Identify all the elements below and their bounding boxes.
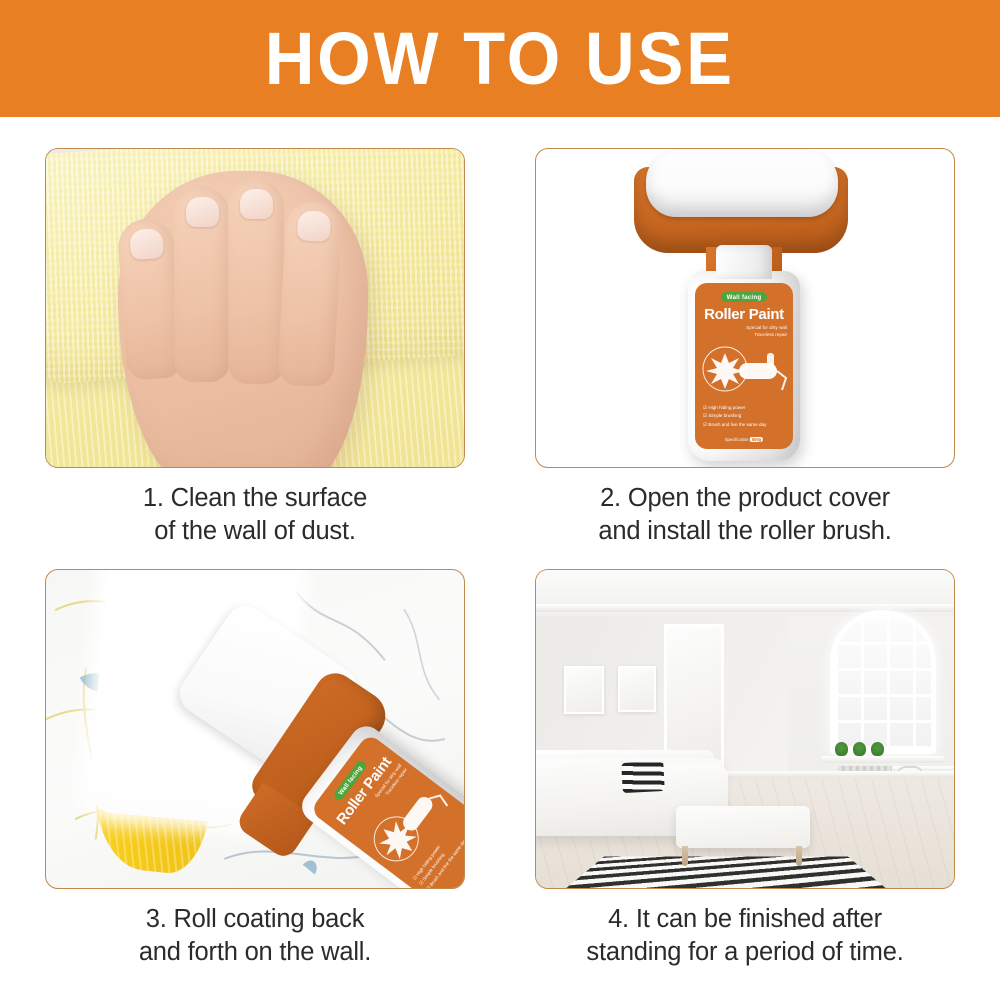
step-1-image [45, 148, 465, 468]
caption-line: and forth on the wall. [45, 936, 465, 969]
label-bullets: High hiding power Simple brushing Brush … [703, 404, 766, 429]
hand [118, 171, 368, 468]
caption-line: 1. Clean the surface [45, 482, 465, 515]
potted-plant [835, 742, 848, 756]
label-subtitle-line: Special for dirty wall [695, 325, 787, 332]
wall-art-frame [618, 666, 656, 712]
caption-line: and install the roller brush. [535, 515, 955, 548]
caption-line: standing for a period of time. [535, 936, 955, 969]
potted-plant [853, 742, 866, 756]
spec-value: 500g [750, 437, 764, 442]
label-subtitle: Special for dirty wall Traceless repair [695, 325, 787, 339]
finger [277, 200, 343, 388]
fingernail [129, 228, 164, 260]
step-card-3: Wall facing Roller Paint Special for dir… [45, 569, 465, 970]
fingernail [297, 210, 332, 242]
label-subtitle-line: Traceless repair [695, 332, 787, 339]
caption-line: of the wall of dust. [45, 515, 465, 548]
step-2-caption: 2. Open the product cover and install th… [535, 482, 955, 549]
steps-grid: 1. Clean the surface of the wall of dust… [0, 117, 1000, 985]
step-3-image: Wall facing Roller Paint Special for dir… [45, 569, 465, 889]
label-bullet: High hiding power [703, 404, 766, 412]
living-room-scene [536, 570, 954, 888]
page-title: HOW TO USE [265, 22, 735, 96]
potted-plant [871, 742, 884, 756]
striped-cushion [621, 761, 665, 793]
window-sill [822, 756, 944, 763]
finger [228, 179, 284, 384]
ottoman [676, 806, 810, 848]
caption-line: 3. Roll coating back [45, 903, 465, 936]
caption-line: 4. It can be finished after [535, 903, 955, 936]
step-card-1: 1. Clean the surface of the wall of dust… [45, 148, 465, 549]
furniture-leg [682, 846, 688, 866]
label-bullet: Simple brushing [703, 412, 766, 420]
bottle-body: Wall facing Roller Paint Special for dir… [688, 271, 800, 461]
furniture-leg [796, 846, 802, 866]
arched-window [830, 610, 936, 754]
label-bullet: Brush and live the same day [703, 421, 766, 429]
label-badge: Wall facing [721, 292, 768, 302]
step-3-caption: 3. Roll coating back and forth on the wa… [45, 903, 465, 970]
label-specification: Specification 500g [725, 437, 763, 442]
roller-sponge [646, 151, 838, 217]
step-1-caption: 1. Clean the surface of the wall of dust… [45, 482, 465, 549]
spec-prefix: Specification [725, 437, 749, 442]
caption-line: 2. Open the product cover [535, 482, 955, 515]
header-banner: HOW TO USE [0, 0, 1000, 117]
product-bottle: Wall facing Roller Paint Special for dir… [688, 271, 800, 461]
step-2-image: Wall facing Roller Paint Special for dir… [535, 148, 955, 468]
label-title: Roller Paint [695, 307, 793, 322]
fingernail [186, 197, 219, 227]
label-roller-illustration [699, 339, 791, 409]
striped-rug [564, 857, 888, 889]
finger [174, 187, 230, 382]
step-card-4: 4. It can be finished after standing for… [535, 569, 955, 970]
how-to-use-infographic: HOW TO USE [0, 0, 1000, 985]
step-4-caption: 4. It can be finished after standing for… [535, 903, 955, 970]
step-4-image [535, 569, 955, 889]
step-card-2: Wall facing Roller Paint Special for dir… [535, 148, 955, 549]
product-label: Wall facing Roller Paint Special for dir… [695, 283, 793, 449]
bottle-neck [716, 245, 772, 279]
fingernail [240, 189, 273, 219]
wall-art-frame [564, 666, 604, 714]
